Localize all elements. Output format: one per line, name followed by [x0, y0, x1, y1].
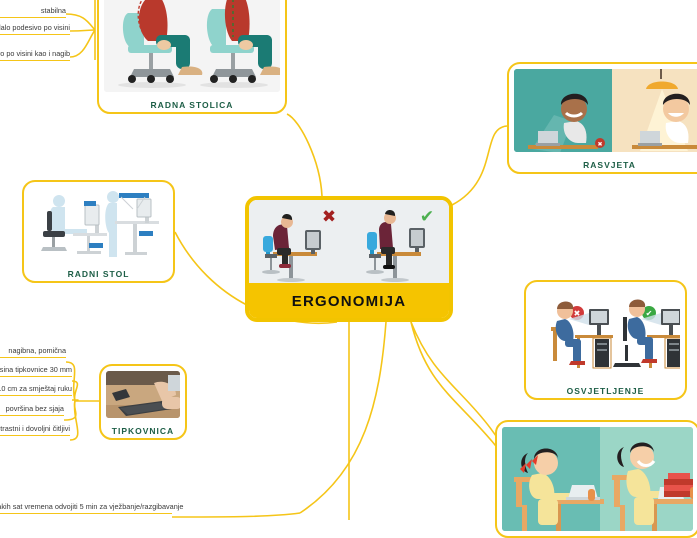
- leaf-keyboard-3[interactable]: površina bez sjaja: [0, 404, 64, 416]
- leaf-link-kb-1: [72, 381, 77, 401]
- node-caption: RASVJETA: [509, 160, 697, 170]
- node-osvjetljenje[interactable]: ✖: [524, 280, 687, 400]
- leaf-link-chair-2: [70, 30, 95, 57]
- leaf-chair-0[interactable]: stabilna: [0, 6, 66, 18]
- link-center-rasvjeta: [452, 126, 507, 205]
- leaf-break-0[interactable]: svakih sat vremena odvojiti 5 min za vje…: [0, 502, 172, 514]
- node-rasvjeta[interactable]: ✖ RASVJETA: [507, 62, 697, 174]
- tipkovnica-illustration: [106, 371, 180, 418]
- page-title: ERGONOMIJA: [248, 283, 450, 319]
- bad-mark-icon: ✖: [322, 207, 336, 227]
- radni-stol-illustration: [29, 187, 168, 261]
- node-radna-stolica[interactable]: RADNA STOLICA: [97, 0, 287, 114]
- leaf-link-chair-1: [70, 30, 95, 31]
- link-center-stolica: [287, 114, 322, 196]
- leaf-link-break: [172, 513, 300, 517]
- leaf-keyboard-4[interactable]: znakovi kontrastni i dovoljni čitljivi: [0, 424, 70, 436]
- node-vjezbanje[interactable]: [495, 420, 697, 538]
- leaf-chair-1[interactable]: sjedalo podesivo po visini: [0, 23, 70, 35]
- central-node[interactable]: ✖ ✔ ERGONOMIJA: [245, 196, 453, 322]
- vjezbanje-illustration: [502, 427, 693, 531]
- leaf-link-kb-2: [72, 400, 78, 401]
- leaf-keyboard-1[interactable]: visina tipkovnice 30 mm: [0, 365, 72, 377]
- node-caption: TIPKOVNICA: [101, 426, 185, 436]
- node-caption: OSVJETLJENJE: [526, 386, 685, 396]
- node-caption: RADNI STOL: [24, 269, 173, 279]
- node-caption: RADNA STOLICA: [99, 100, 285, 110]
- leaf-keyboard-2[interactable]: 10 cm za smještaj ruku: [0, 384, 72, 396]
- leaf-keyboard-0[interactable]: nagibna, pomična: [0, 346, 66, 358]
- svg-text:✖: ✖: [597, 141, 602, 148]
- link-center-tipkovnica: [300, 322, 386, 513]
- central-illustration: ✖ ✔: [249, 200, 449, 292]
- leaf-chair-2[interactable]: naslon podesivo po visini kao i nagib: [0, 49, 70, 61]
- rasvjeta-illustration: ✖: [514, 69, 697, 152]
- leaf-link-chair-0: [66, 14, 95, 30]
- osvjetljenje-illustration: ✖: [531, 287, 680, 378]
- leaf-link-kb-4: [70, 401, 78, 440]
- node-tipkovnica[interactable]: TIPKOVNICA: [99, 364, 187, 440]
- node-radni-stol[interactable]: RADNI STOL: [22, 180, 175, 283]
- radna-stolica-illustration: [104, 0, 280, 92]
- mindmap-canvas: ✖ ✔ ERGONOMIJA: [0, 0, 697, 520]
- good-mark-icon: ✔: [420, 207, 434, 227]
